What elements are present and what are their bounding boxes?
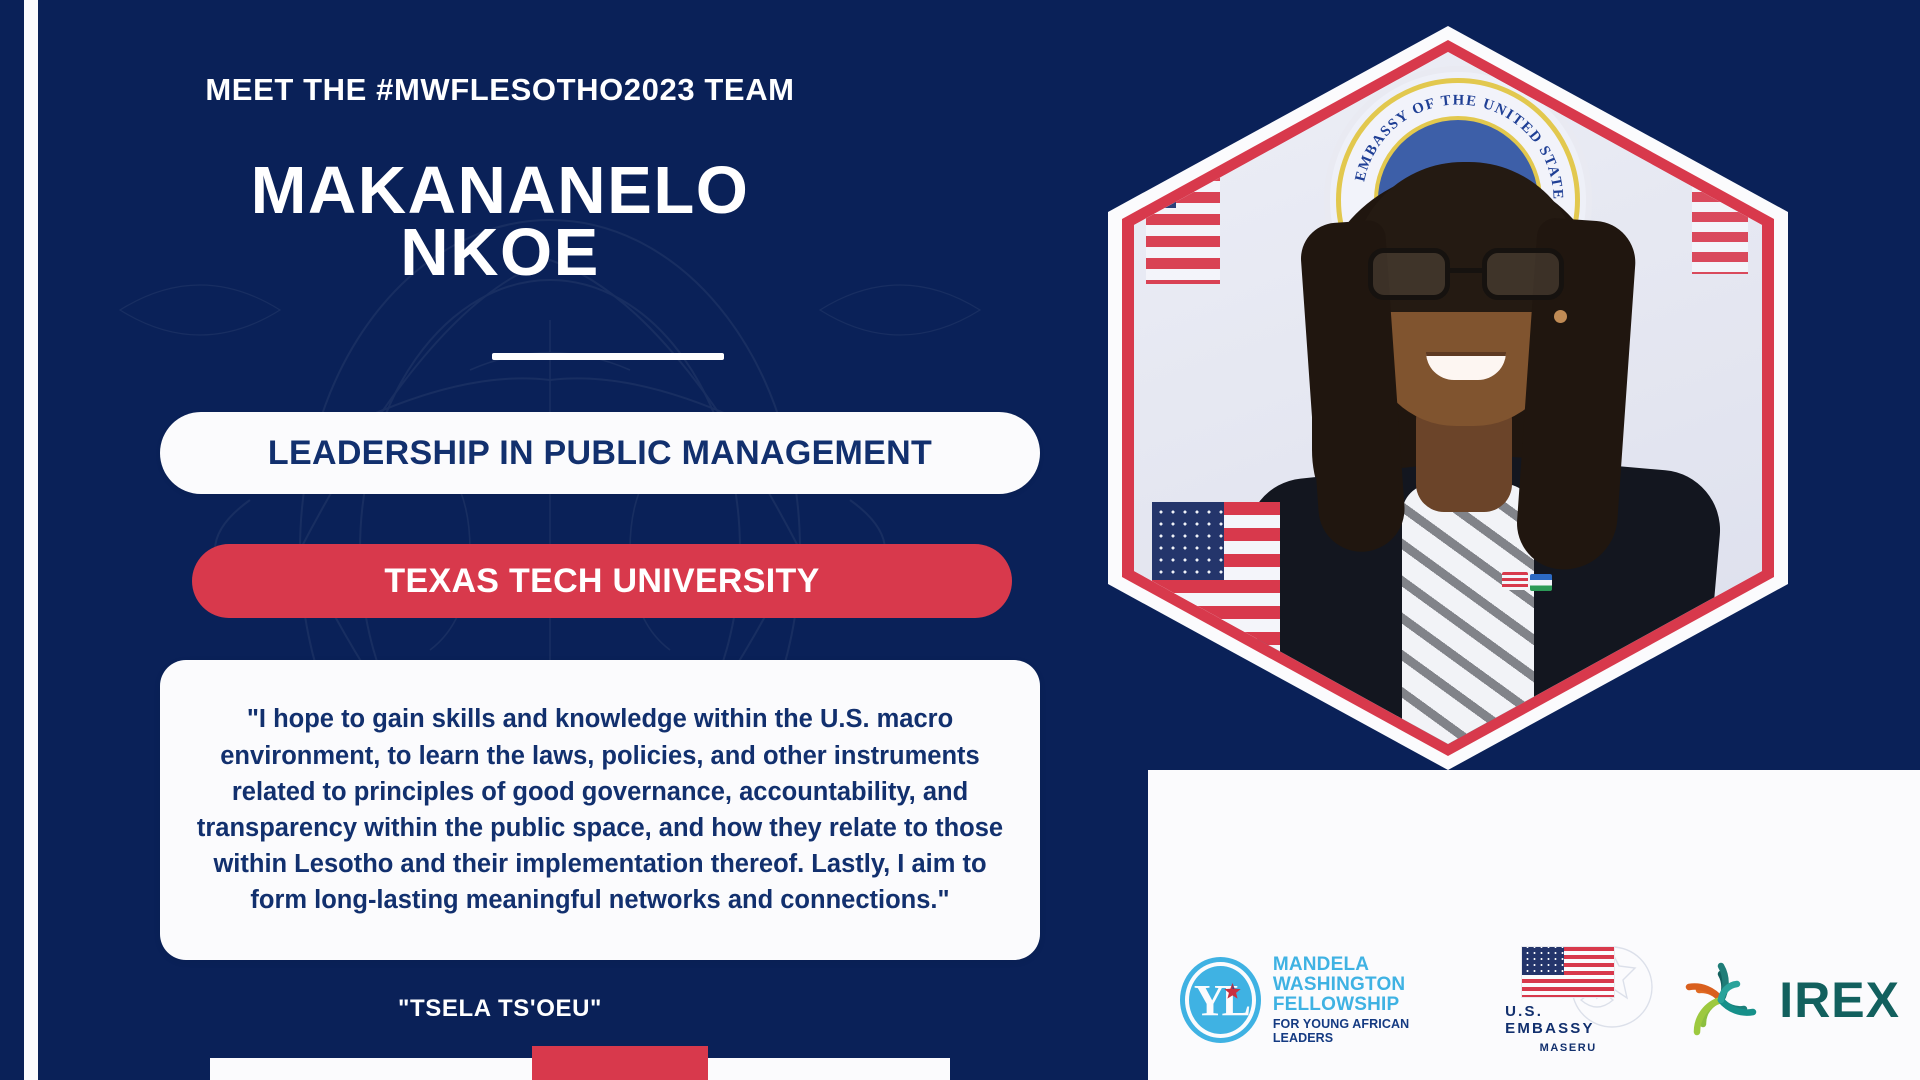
quote-card: "I hope to gain skills and knowledge wit… [160, 660, 1040, 960]
us-flag-icon [1521, 946, 1615, 998]
bottom-red-block [532, 1046, 708, 1080]
us-embassy-logo: U.S. EMBASSY MASERU [1505, 946, 1631, 1054]
mwf-line-3: FELLOWSHIP [1273, 995, 1461, 1015]
mwf-wordmark: MANDELA WASHINGTON FELLOWSHIP FOR YOUNG … [1273, 955, 1461, 1045]
lesotho-flag-pin [1530, 574, 1552, 591]
irex-logo: IREX [1675, 954, 1900, 1046]
portrait-hexagon: EMBASSY OF THE UNITED STATES OF AMER [1108, 26, 1788, 770]
mwf-line-2: WASHINGTON [1273, 975, 1461, 995]
mwf-line-1: MANDELA [1273, 955, 1461, 975]
fellow-first-name: MAKANANELO [60, 160, 940, 222]
irex-wordmark: IREX [1779, 971, 1900, 1029]
motto-text: "TSELA TS'OEU" [60, 995, 940, 1023]
eyeglasses [1368, 248, 1564, 302]
poster-canvas: MEET THE #MWFLESOTHO2023 TEAM MAKANANELO… [0, 0, 1920, 1080]
sponsor-logos: YL MANDELA WASHINGTON FELLOWSHIP FOR YOU… [1180, 940, 1900, 1060]
irex-mark-icon [1675, 954, 1767, 1046]
mwf-tagline: FOR YOUNG AFRICAN LEADERS [1273, 1018, 1461, 1045]
fellow-last-name: NKOE [60, 222, 940, 284]
page-title: MAKANANELO NKOE [60, 160, 940, 283]
star-icon [1224, 983, 1241, 1000]
us-flag-pin [1502, 572, 1528, 590]
title-divider [492, 353, 724, 360]
campaign-eyebrow: MEET THE #MWFLESOTHO2023 TEAM [60, 72, 940, 108]
embassy-line-2: MASERU [1540, 1042, 1597, 1054]
mwf-circle-icon: YL [1180, 957, 1261, 1043]
embassy-line-1: U.S. EMBASSY [1505, 1003, 1631, 1037]
mandela-washington-fellowship-logo: YL MANDELA WASHINGTON FELLOWSHIP FOR YOU… [1180, 955, 1461, 1045]
track-badge: LEADERSHIP IN PUBLIC MANAGEMENT [160, 412, 1040, 494]
fellow-quote: "I hope to gain skills and knowledge wit… [160, 701, 1040, 918]
left-content-column: MEET THE #MWFLESOTHO2023 TEAM MAKANANELO… [0, 0, 1060, 1080]
university-badge: TEXAS TECH UNIVERSITY [192, 544, 1012, 618]
